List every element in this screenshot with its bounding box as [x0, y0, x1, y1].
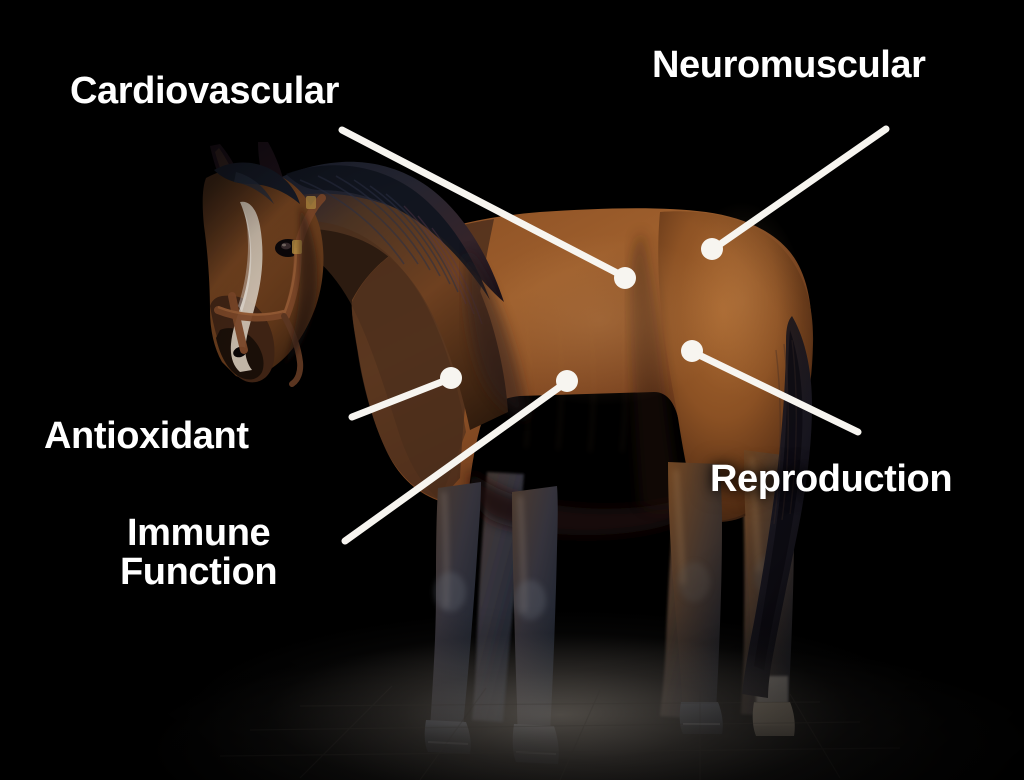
- label-cardiovascular: Cardiovascular: [70, 72, 339, 111]
- leader-dot-cardiovascular: [614, 267, 636, 289]
- label-antioxidant: Antioxidant: [44, 417, 249, 456]
- leader-line-antioxidant: [352, 381, 444, 417]
- label-immune-line1: Immune: [127, 512, 270, 554]
- leader-dot-antioxidant: [440, 367, 462, 389]
- label-immune-line2: Function: [120, 553, 277, 592]
- leader-dot-immune-function: [556, 370, 578, 392]
- annotated-horse-image: Cardiovascular Neuromuscular Antioxidant…: [0, 0, 1024, 780]
- label-immune-function: Immune Function: [120, 514, 277, 592]
- leader-line-cardiovascular: [342, 130, 619, 274]
- label-neuromuscular: Neuromuscular: [652, 46, 926, 85]
- label-reproduction: Reproduction: [710, 460, 952, 499]
- annotation-leader-lines: [0, 0, 1024, 780]
- leader-dot-neuromuscular: [701, 238, 723, 260]
- leader-line-neuromuscular: [719, 129, 886, 245]
- leader-line-reproduction: [699, 355, 858, 432]
- leader-dot-reproduction: [681, 340, 703, 362]
